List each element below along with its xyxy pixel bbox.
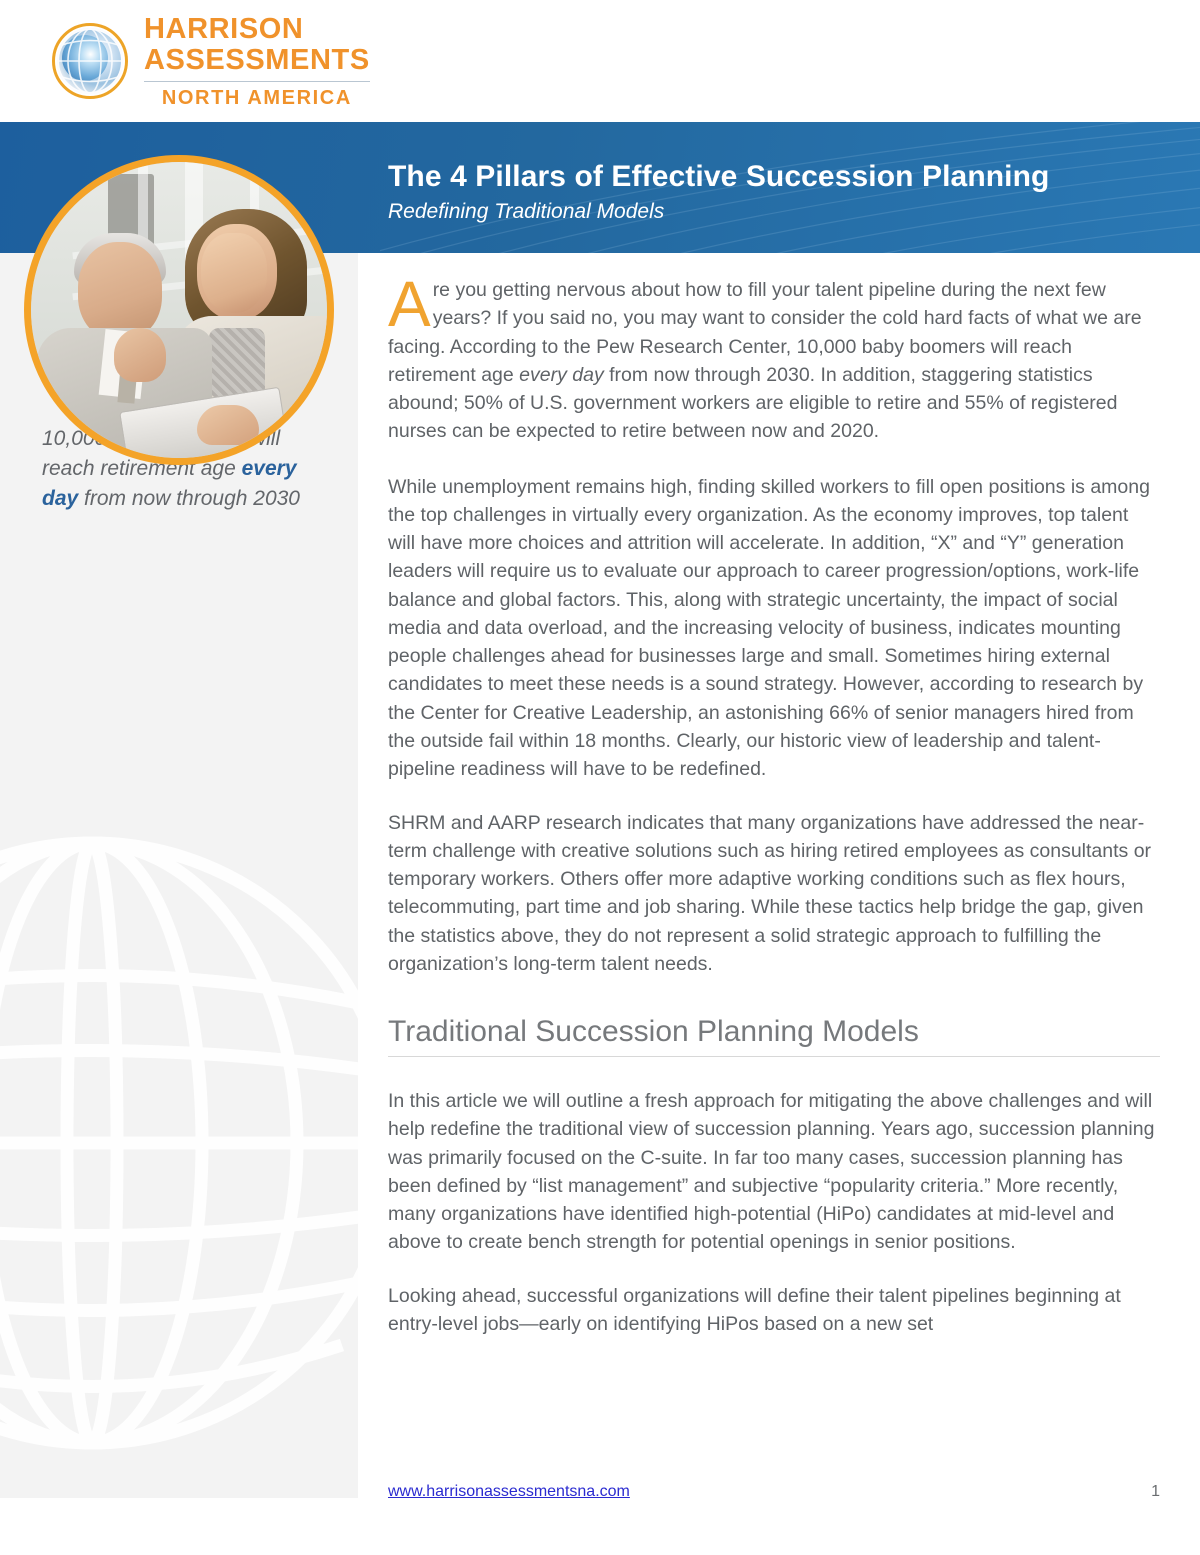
page-footer: www.harrisonassessmentsna.com 1 [388,1483,1160,1501]
paragraph-5: Looking ahead, successful organizations … [388,1282,1160,1339]
brand-line-2: ASSESSMENTS [144,46,370,75]
brand-line-3: NORTH AMERICA [144,88,370,108]
masthead: HARRISON ASSESSMENTS NORTH AMERICA [0,0,1200,122]
globe-watermark-icon [0,833,358,1453]
hero-photo [24,155,334,465]
brand-logo: HARRISON ASSESSMENTS NORTH AMERICA [52,15,370,108]
drop-cap: A [388,278,433,330]
brand-divider [144,81,370,82]
brand-wordmark: HARRISON ASSESSMENTS NORTH AMERICA [144,15,370,108]
paragraph-1-emphasis: every day [519,364,604,386]
article-body: Are you getting nervous about how to fil… [388,276,1160,1363]
paragraph-2: While unemployment remains high, finding… [388,473,1160,784]
pull-quote-part-2: from now through 2030 [78,487,300,510]
paragraph-3: SHRM and AARP research indicates that ma… [388,809,1160,979]
globe-icon [52,23,128,99]
website-link[interactable]: www.harrisonassessmentsna.com [388,1483,630,1501]
brand-line-1: HARRISON [144,15,370,44]
hero-text-group: The 4 Pillars of Effective Succession Pl… [388,160,1148,224]
paragraph-4: In this article we will outline a fresh … [388,1087,1160,1257]
paragraph-1: Are you getting nervous about how to fil… [388,276,1160,446]
page-number: 1 [1151,1483,1160,1501]
document-page: HARRISON ASSESSMENTS NORTH AMERICA The 4… [0,0,1200,1555]
section-heading: Traditional Succession Planning Models [388,1014,1160,1050]
section-divider [388,1056,1160,1057]
page-subtitle: Redefining Traditional Models [388,200,1148,224]
page-title: The 4 Pillars of Effective Succession Pl… [388,160,1148,195]
